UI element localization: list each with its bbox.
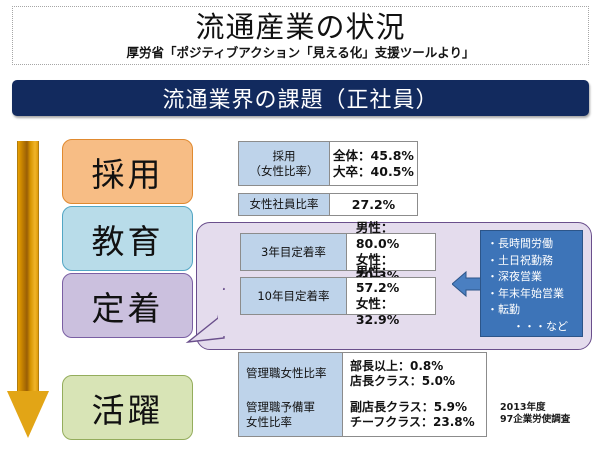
page-title: 流通産業の状況	[13, 10, 588, 45]
cause-item-etc: ・・・など	[487, 319, 578, 336]
source-footnote-survey: 97企業労使調査	[500, 414, 595, 426]
table-retention-10y-label: 10年目定着率	[241, 278, 347, 314]
table-retention-3y-label: 3年目定着率	[241, 234, 347, 270]
table-recruit-label: 採用 （女性比率）	[239, 142, 330, 185]
table-management-row2-value-chief: チーフクラス：23.8%	[350, 415, 486, 430]
table-management-row1-value-director: 部長以上：0.8%	[350, 359, 486, 374]
cause-item-long-hours: ・長時間労働	[487, 236, 578, 253]
table-management-row1-value: 部長以上：0.8% 店長クラス：5.0%	[343, 353, 486, 395]
table-management-ratio: 管理職女性比率 管理職予備軍 女性比率 部長以上：0.8% 店長クラス：5.0%…	[238, 352, 487, 437]
cause-item-relocation: ・転勤	[487, 302, 578, 319]
table-recruit-ratio: 採用 （女性比率） 全体：45.8% 大卒：40.5%	[238, 141, 418, 186]
title-box: 流通産業の状況 厚労省「ポジティブアクション「見える化」支援ツールより」	[12, 6, 589, 65]
stage-label-recruit: 採用	[92, 148, 164, 196]
table-management-row2-label-line1: 管理職予備軍	[246, 400, 342, 415]
table-retention-10y-male: 男性：57.2%	[356, 264, 435, 296]
callout-bubble-tail-icon	[188, 288, 224, 342]
stage-box-advancement: 活躍	[62, 375, 193, 440]
table-recruit-label-line2: （女性比率）	[249, 164, 318, 179]
table-retention-10y: 10年目定着率 男性：57.2% 女性：32.9%	[240, 277, 436, 315]
table-female-ratio-value: 27.2%	[330, 194, 417, 215]
stage-label-retention: 定着	[92, 282, 164, 330]
table-management-labels: 管理職女性比率 管理職予備軍 女性比率	[239, 353, 343, 436]
table-management-row1-label: 管理職女性比率	[239, 353, 342, 395]
table-recruit-label-line1: 採用	[272, 149, 295, 164]
table-management-row1-value-store-manager: 店長クラス：5.0%	[350, 374, 486, 389]
arrow-shaft	[17, 141, 39, 394]
table-retention-10y-female: 女性：32.9%	[356, 296, 435, 328]
cause-item-year-end-new-year-operation: ・年末年始営業	[487, 286, 578, 303]
causes-list-box: ・長時間労働 ・土日祝勤務 ・深夜営業 ・年末年始営業 ・転勤 ・・・など	[480, 230, 583, 337]
arrow-head	[7, 391, 49, 438]
table-retention-3y-male: 男性：80.0%	[356, 220, 435, 252]
section-banner-label: 流通業界の課題（正社員）	[162, 82, 438, 114]
page-subtitle: 厚労省「ポジティブアクション「見える化」支援ツールより」	[13, 45, 588, 61]
table-retention-10y-value: 男性：57.2% 女性：32.9%	[347, 278, 435, 314]
table-recruit-value-overall: 全体：45.8%	[333, 148, 414, 164]
table-management-values: 部長以上：0.8% 店長クラス：5.0% 副店長クラス：5.9% チーフクラス：…	[343, 353, 486, 436]
table-management-row2-value: 副店長クラス：5.9% チーフクラス：23.8%	[343, 395, 486, 437]
stage-box-recruit: 採用	[62, 139, 193, 204]
cause-item-weekend-holiday-work: ・土日祝勤務	[487, 253, 578, 270]
cause-item-late-night-operation: ・深夜営業	[487, 269, 578, 286]
table-management-row1-label-text: 管理職女性比率	[246, 366, 342, 381]
table-recruit-value-university: 大卒：40.5%	[333, 164, 414, 180]
source-footnote-year: 2013年度	[500, 402, 595, 414]
stage-label-education: 教育	[92, 215, 164, 263]
table-management-row2-label-line2: 女性比率	[246, 415, 342, 430]
stage-box-retention: 定着	[62, 273, 193, 338]
stage-box-education: 教育	[62, 206, 193, 271]
table-female-employee-ratio: 女性社員比率 27.2%	[238, 193, 418, 216]
cause-pointer-arrow-icon	[452, 270, 482, 298]
section-banner: 流通業界の課題（正社員）	[12, 80, 589, 116]
downward-progression-arrow-icon	[7, 141, 49, 438]
stage-label-advancement: 活躍	[92, 384, 164, 432]
table-management-row2-label: 管理職予備軍 女性比率	[239, 395, 342, 437]
table-recruit-value: 全体：45.8% 大卒：40.5%	[330, 142, 417, 185]
source-footnote: 2013年度 97企業労使調査	[500, 402, 595, 426]
table-female-ratio-label: 女性社員比率	[239, 194, 330, 215]
table-management-row2-value-deputy-manager: 副店長クラス：5.9%	[350, 400, 486, 415]
